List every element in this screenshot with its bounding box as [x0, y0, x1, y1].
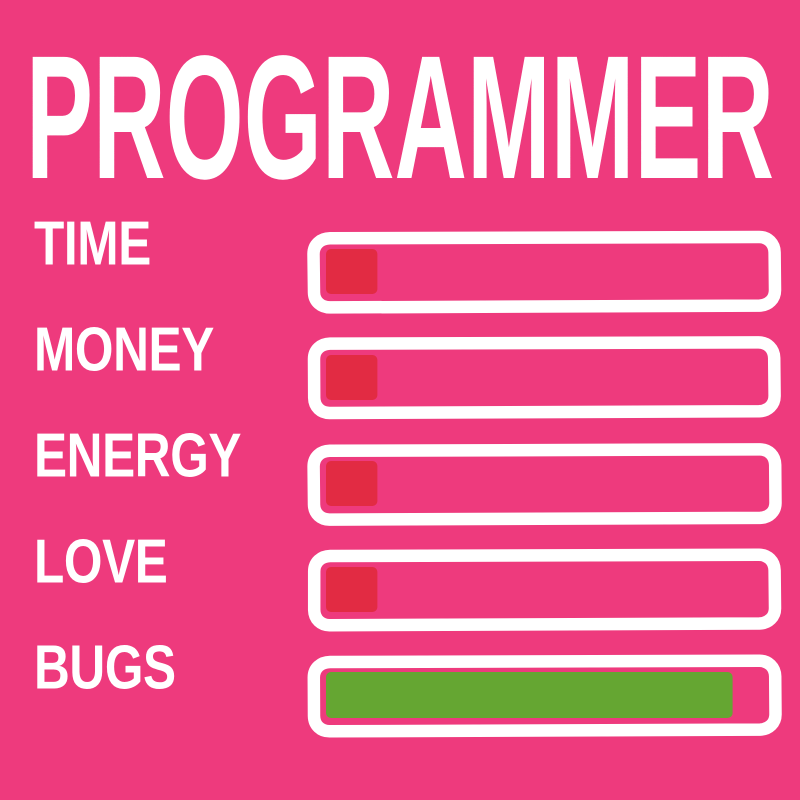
- progress-track: [314, 449, 776, 519]
- poster-canvas: PROGRAMMER TIME MONEY: [0, 0, 800, 800]
- progress-bar-time[interactable]: [305, 228, 783, 314]
- progress-bar-energy[interactable]: [305, 440, 783, 526]
- progress-bar-artwork: [305, 440, 783, 526]
- progress-track: [314, 237, 776, 307]
- progress-bar-artwork: [305, 228, 783, 314]
- progress-bar-bugs[interactable]: [305, 652, 783, 738]
- stat-label-bugs: BUGS: [34, 668, 211, 721]
- stat-rows: TIME MONEY ENERG: [0, 218, 800, 748]
- progress-track: [314, 342, 775, 413]
- stat-label-money: MONEY: [34, 350, 259, 403]
- progress-bar-artwork: [305, 652, 783, 738]
- progress-fill: [326, 249, 377, 294]
- stat-label-energy: ENERGY: [34, 456, 293, 509]
- progress-track: [314, 555, 775, 625]
- poster-title: PROGRAMMER: [26, 48, 774, 200]
- title-text: PROGRAMMER: [26, 48, 774, 200]
- stat-row: LOVE: [0, 536, 800, 642]
- stat-row: TIME: [0, 218, 800, 324]
- stat-row: ENERGY: [0, 430, 800, 536]
- stat-label-love: LOVE: [34, 562, 201, 615]
- stat-label-time: TIME: [34, 244, 180, 297]
- progress-bar-money[interactable]: [305, 334, 783, 420]
- progress-bar-love[interactable]: [305, 546, 783, 632]
- progress-fill: [326, 461, 377, 506]
- stat-row: BUGS: [0, 642, 800, 748]
- progress-fill: [326, 672, 733, 718]
- stat-row: MONEY: [0, 324, 800, 430]
- progress-bar-artwork: [305, 334, 783, 420]
- progress-bar-artwork: [305, 546, 783, 632]
- progress-fill: [326, 355, 377, 400]
- title-artwork: PROGRAMMER: [26, 48, 774, 200]
- progress-fill: [326, 567, 377, 612]
